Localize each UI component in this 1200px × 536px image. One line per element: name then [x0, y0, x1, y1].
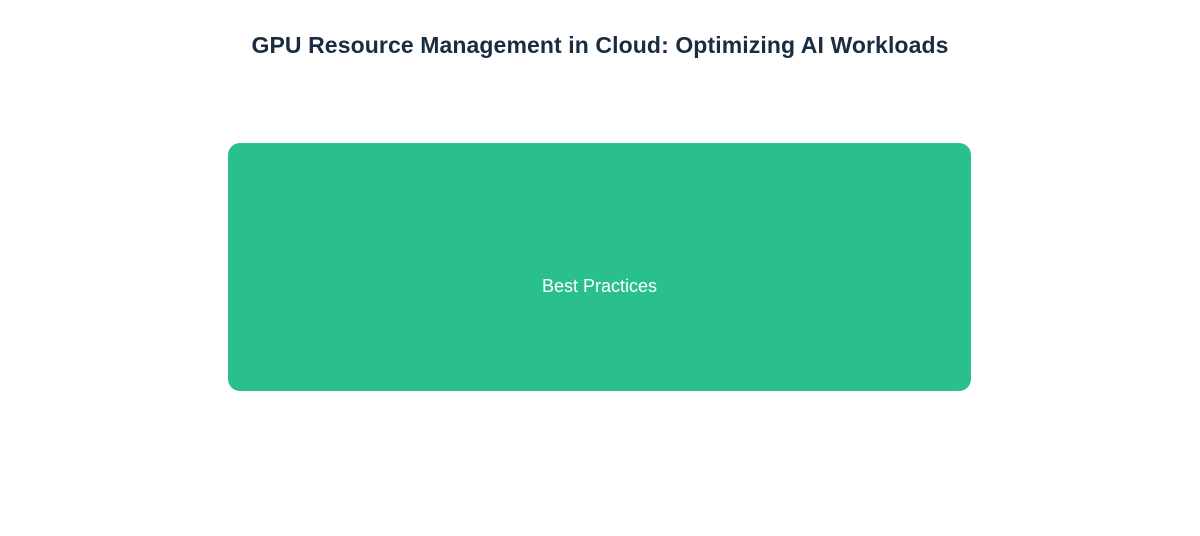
- diagram-container: Best Practices: [0, 0, 1200, 536]
- node-best-practices[interactable]: Best Practices: [228, 143, 971, 391]
- slide-canvas: GPU Resource Management in Cloud: Optimi…: [0, 0, 1200, 536]
- node-best-practices-label: Best Practices: [542, 276, 657, 297]
